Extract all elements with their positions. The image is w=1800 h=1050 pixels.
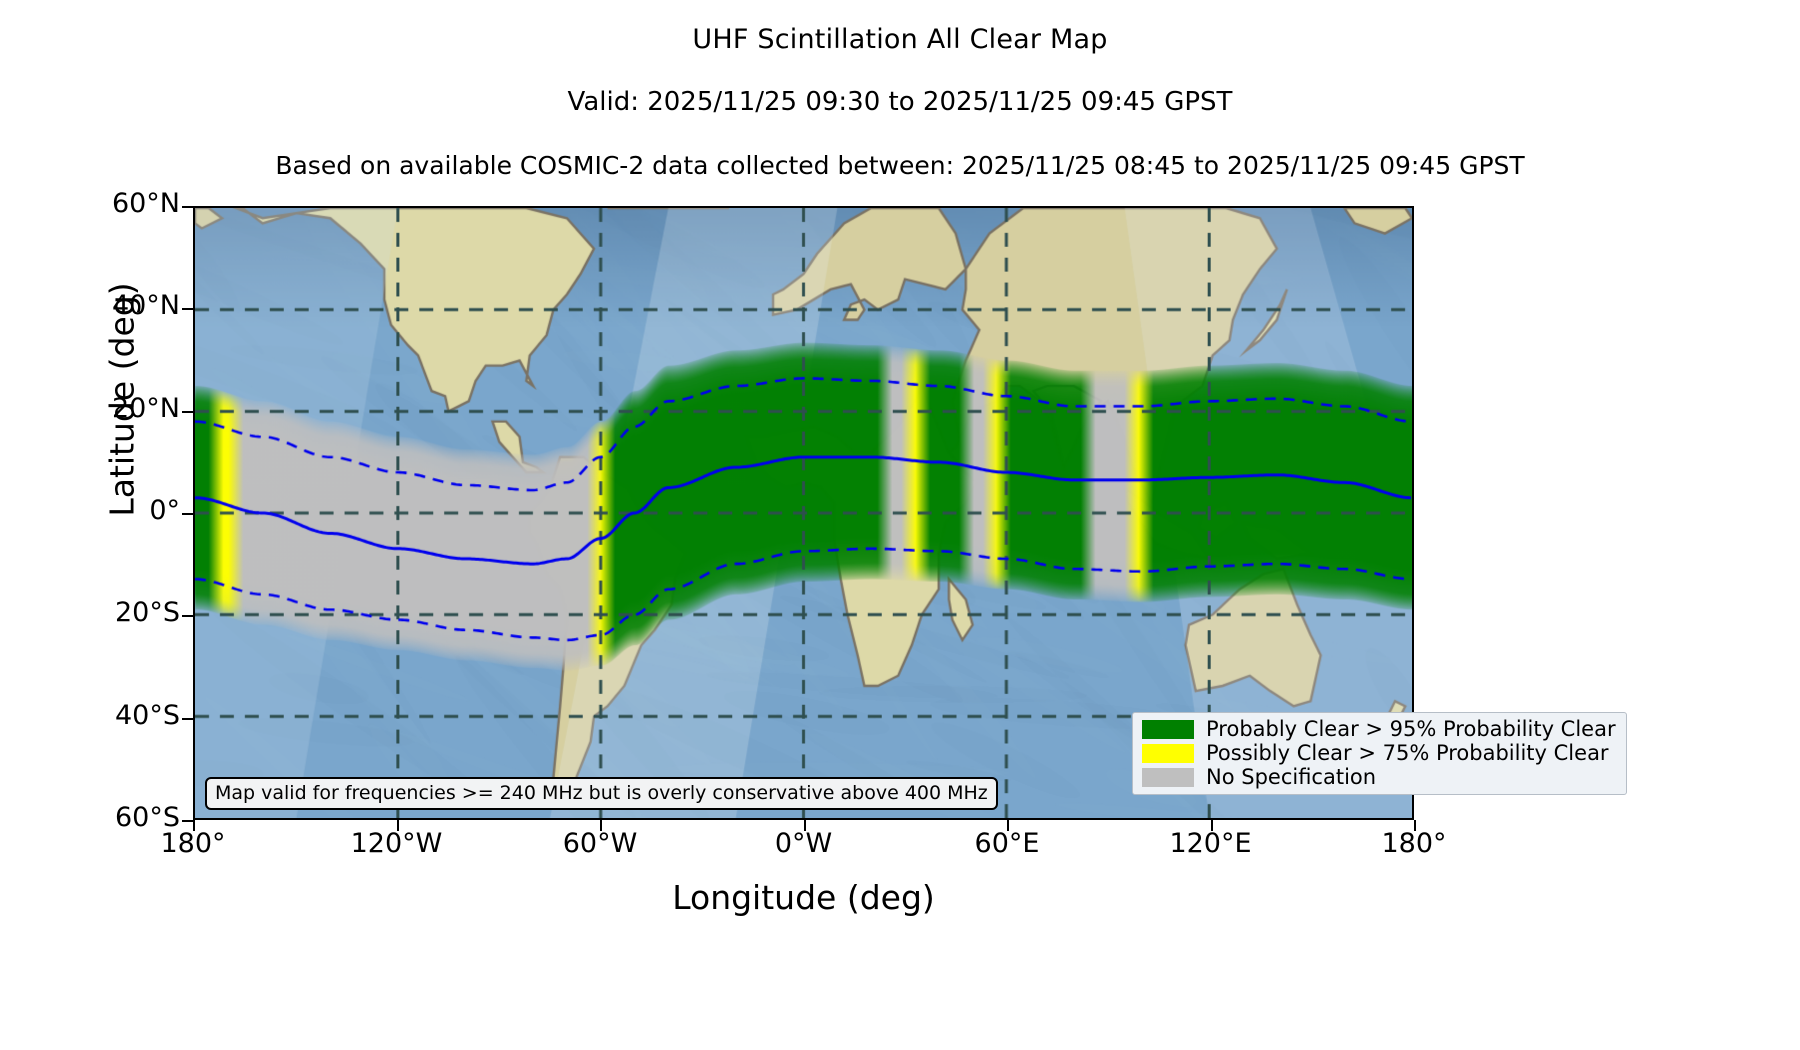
y-tick-label: 60°N [30, 188, 180, 219]
y-tick-label: 40°N [30, 290, 180, 321]
y-tick-mark [182, 718, 193, 720]
y-tick-mark [182, 513, 193, 515]
x-tick-label: 180° [1314, 828, 1514, 859]
validity-subtitle: Valid: 2025/11/25 09:30 to 2025/11/25 09… [0, 87, 1800, 117]
y-tick-mark [182, 308, 193, 310]
legend-swatch-no-specification [1142, 768, 1194, 787]
x-tick-mark [804, 820, 806, 831]
x-tick-mark [193, 820, 195, 831]
x-tick-mark [600, 820, 602, 831]
map-legend: Probably Clear > 95% Probability ClearPo… [1132, 712, 1627, 795]
y-tick-mark [182, 820, 193, 822]
x-tick-mark [1414, 820, 1416, 831]
legend-label: No Specification [1206, 767, 1376, 787]
legend-swatch-possibly-clear [1142, 744, 1194, 763]
y-tick-mark [182, 411, 193, 413]
x-tick-label: 60°E [907, 828, 1107, 859]
x-tick-label: 0°W [704, 828, 904, 859]
frequency-validity-note: Map valid for frequencies >= 240 MHz but… [205, 777, 998, 810]
legend-label: Probably Clear > 95% Probability Clear [1206, 719, 1616, 739]
y-tick-label: 20°N [30, 393, 180, 424]
x-tick-mark [397, 820, 399, 831]
legend-item-no-specification: No Specification [1142, 767, 1616, 787]
x-tick-label: 180° [93, 828, 293, 859]
legend-label: Possibly Clear > 75% Probability Clear [1206, 743, 1609, 763]
x-tick-mark [1211, 820, 1213, 831]
legend-item-possibly-clear: Possibly Clear > 75% Probability Clear [1142, 743, 1616, 763]
y-tick-label: 0° [30, 495, 180, 526]
x-tick-label: 60°W [500, 828, 700, 859]
y-tick-label: 20°S [30, 597, 180, 628]
x-tick-mark [1007, 820, 1009, 831]
legend-swatch-probably-clear [1142, 720, 1194, 739]
page-title: UHF Scintillation All Clear Map [0, 24, 1800, 55]
y-tick-mark [182, 615, 193, 617]
x-tick-label: 120°W [297, 828, 497, 859]
legend-item-probably-clear: Probably Clear > 95% Probability Clear [1142, 719, 1616, 739]
chart-title-block: UHF Scintillation All Clear Map Valid: 2… [0, 0, 1800, 180]
y-tick-mark [182, 206, 193, 208]
data-basis-subtitle: Based on available COSMIC-2 data collect… [0, 151, 1800, 180]
x-axis-label: Longitude (deg) [193, 878, 1414, 917]
y-tick-label: 40°S [30, 700, 180, 731]
x-tick-label: 120°E [1111, 828, 1311, 859]
